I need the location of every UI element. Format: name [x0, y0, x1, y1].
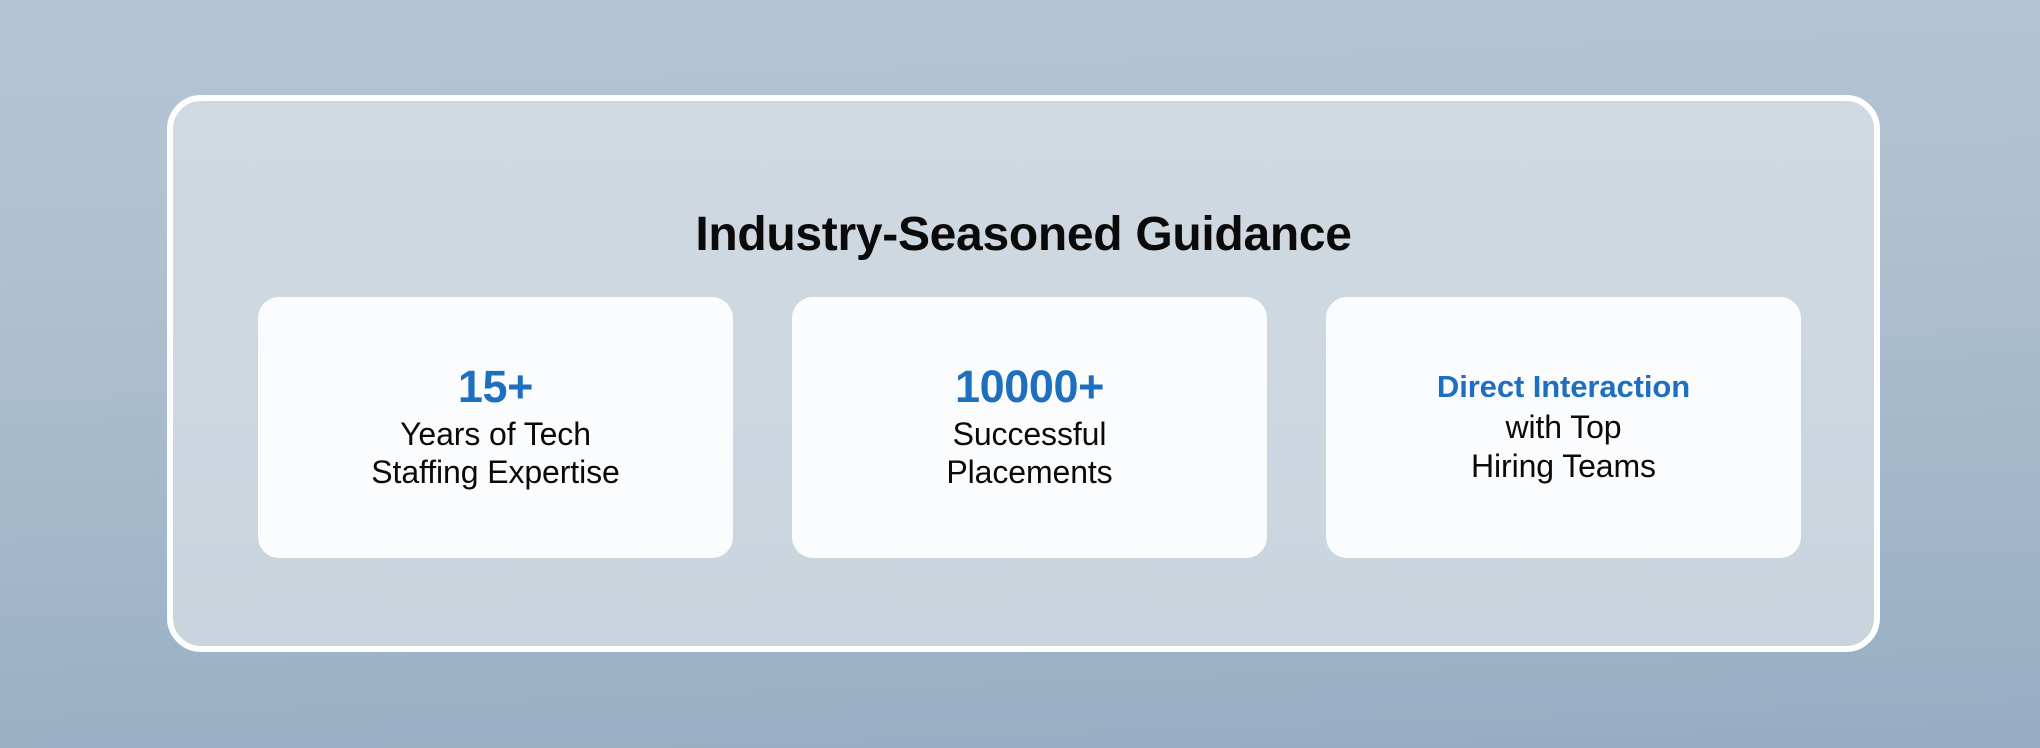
- stat-label-line: Hiring Teams: [1471, 447, 1656, 485]
- stat-card-placements: 10000+ Successful Placements: [792, 297, 1267, 558]
- stat-label: with Top Hiring Teams: [1471, 408, 1656, 485]
- stat-card-years-experience: 15+ Years of Tech Staffing Expertise: [258, 297, 733, 558]
- stat-label-line: Years of Tech: [371, 415, 619, 453]
- stat-card-row: 15+ Years of Tech Staffing Expertise 100…: [258, 297, 1801, 558]
- stat-label-line: Placements: [946, 453, 1112, 491]
- stat-label-line: Successful: [946, 415, 1112, 453]
- stats-banner: Industry-Seasoned Guidance 15+ Years of …: [0, 0, 2040, 748]
- page-title: Industry-Seasoned Guidance: [173, 211, 1874, 259]
- stat-label: Years of Tech Staffing Expertise: [371, 415, 619, 492]
- stat-value: 15+: [458, 363, 533, 412]
- stat-card-direct-interaction: Direct Interaction with Top Hiring Teams: [1326, 297, 1801, 558]
- industry-guidance-panel: Industry-Seasoned Guidance 15+ Years of …: [167, 95, 1880, 652]
- stat-value: Direct Interaction: [1437, 370, 1690, 403]
- stat-label-line: Staffing Expertise: [371, 453, 619, 491]
- stat-label: Successful Placements: [946, 415, 1112, 492]
- stat-value: 10000+: [955, 363, 1104, 412]
- stat-label-line: with Top: [1471, 408, 1656, 446]
